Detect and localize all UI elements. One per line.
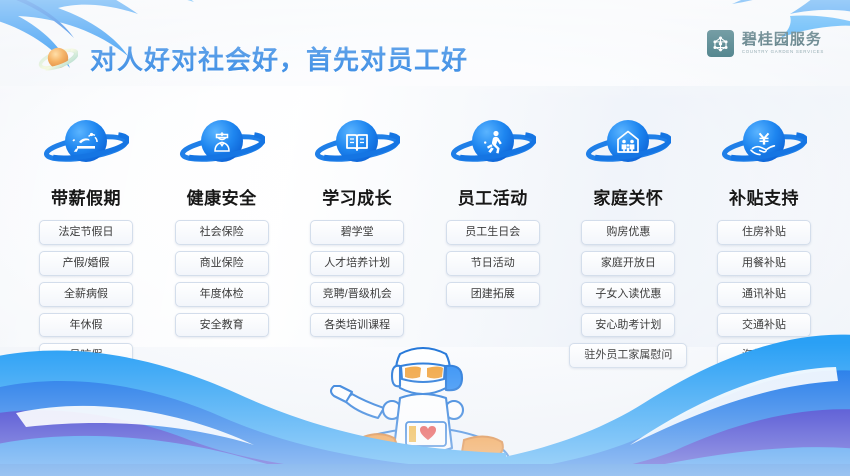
benefit-chip[interactable]: 吊唁假 xyxy=(39,343,133,368)
benefit-chip[interactable]: 购房优惠 xyxy=(581,220,675,245)
benefit-chip[interactable]: 通讯补贴 xyxy=(717,282,811,307)
poster-canvas: 对人好对社会好，首先对员工好 碧桂园服务 COUN xyxy=(0,0,850,476)
benefit-chip[interactable]: 年休假 xyxy=(39,313,133,338)
column-title: 员工活动 xyxy=(458,184,528,209)
chip-list: 购房优惠 家庭开放日 子女入读优惠 安心助考计划 驻外员工家属慰问 xyxy=(562,220,694,368)
column-title: 家庭关怀 xyxy=(593,184,663,209)
benefit-column-paid-leave: 带薪假期 法定节假日 产假/婚假 全薪病假 年休假 吊唁假 少数民族福利假期 xyxy=(20,112,152,399)
benefit-chip[interactable]: 少数民族福利假期 xyxy=(27,374,145,399)
benefit-chip[interactable]: 驻外员工家属慰问 xyxy=(569,343,687,368)
poster-header: 对人好对社会好，首先对员工好 碧桂园服务 COUN xyxy=(0,0,850,96)
benefit-column-learning-growth: 学习成长 碧学堂 人才培养计划 竞聘/晋级机会 各类培训课程 xyxy=(291,112,423,337)
benefit-chip[interactable]: 安全教育 xyxy=(175,313,269,338)
benefit-column-health-safety: 健康安全 社会保险 商业保险 年度体检 安全教育 xyxy=(156,112,288,337)
column-title: 健康安全 xyxy=(187,184,257,209)
benefit-chip[interactable]: 节日活动 xyxy=(446,251,540,276)
benefit-column-employee-activities: 员工活动 员工生日会 节日活动 团建拓展 xyxy=(427,112,559,307)
benefit-chip[interactable]: 碧学堂 xyxy=(310,220,404,245)
country-garden-logo-icon xyxy=(707,30,734,57)
benefit-chip[interactable]: 年度体检 xyxy=(175,282,269,307)
benefit-chip[interactable]: 用餐补贴 xyxy=(717,251,811,276)
title-block: 对人好对社会好，首先对员工好 xyxy=(38,40,468,77)
benefit-chip[interactable]: 员工生日会 xyxy=(446,220,540,245)
chip-list: 碧学堂 人才培养计划 竞聘/晋级机会 各类培训课程 xyxy=(291,220,423,337)
benefit-column-allowances: 补贴支持 住房补贴 用餐补贴 通讯补贴 交通补贴 海外补贴 高温补贴 偏远地区地… xyxy=(698,112,830,430)
benefit-chip[interactable]: 子女入读优惠 xyxy=(581,282,675,307)
benefit-chip[interactable]: 产假/婚假 xyxy=(39,251,133,276)
benefit-chip[interactable]: 商业保险 xyxy=(175,251,269,276)
benefit-chip[interactable]: 人才培养计划 xyxy=(310,251,404,276)
brand-name-en: COUNTRY GARDEN SERVICES xyxy=(742,50,824,54)
column-title: 带薪假期 xyxy=(51,184,121,209)
benefit-chip[interactable]: 团建拓展 xyxy=(446,282,540,307)
hand-yen-money-icon xyxy=(721,112,807,174)
benefit-chip[interactable]: 竞聘/晋级机会 xyxy=(310,282,404,307)
benefit-chip[interactable]: 偏远地区地域补贴 xyxy=(705,405,823,430)
brand-logo: 碧桂园服务 COUNTRY GARDEN SERVICES xyxy=(707,30,824,57)
benefit-chip[interactable]: 海外补贴 xyxy=(717,343,811,368)
benefit-chip[interactable]: 安心助考计划 xyxy=(581,313,675,338)
benefit-chip[interactable]: 各类培训课程 xyxy=(310,313,404,338)
brand-name-cn: 碧桂园服务 xyxy=(742,32,824,47)
benefit-chip[interactable]: 高温补贴 xyxy=(717,374,811,399)
open-book-icon xyxy=(314,112,400,174)
benefit-chip[interactable]: 交通补贴 xyxy=(717,313,811,338)
benefit-chip[interactable]: 法定节假日 xyxy=(39,220,133,245)
benefit-chip[interactable]: 全薪病假 xyxy=(39,282,133,307)
doctor-icon xyxy=(179,112,265,174)
benefit-chip[interactable]: 社会保险 xyxy=(175,220,269,245)
beach-vacation-icon xyxy=(43,112,129,174)
robot-mascot-illustration xyxy=(288,336,558,476)
benefit-chip[interactable]: 住房补贴 xyxy=(717,220,811,245)
column-title: 学习成长 xyxy=(322,184,392,209)
running-person-icon xyxy=(450,112,536,174)
chip-list: 员工生日会 节日活动 团建拓展 xyxy=(427,220,559,307)
chip-list: 住房补贴 用餐补贴 通讯补贴 交通补贴 海外补贴 高温补贴 偏远地区地域补贴 xyxy=(698,220,830,430)
benefit-chip[interactable]: 家庭开放日 xyxy=(581,251,675,276)
saturn-planet-icon xyxy=(38,42,78,76)
brand-text: 碧桂园服务 COUNTRY GARDEN SERVICES xyxy=(742,32,824,54)
chip-list: 法定节假日 产假/婚假 全薪病假 年休假 吊唁假 少数民族福利假期 xyxy=(20,220,152,399)
page-title: 对人好对社会好，首先对员工好 xyxy=(90,40,468,77)
family-house-icon xyxy=(585,112,671,174)
chip-list: 社会保险 商业保险 年度体检 安全教育 xyxy=(156,220,288,337)
column-title: 补贴支持 xyxy=(729,184,799,209)
benefit-column-family-care: 家庭关怀 购房优惠 家庭开放日 子女入读优惠 安心助考计划 驻外员工家属慰问 xyxy=(562,112,694,368)
